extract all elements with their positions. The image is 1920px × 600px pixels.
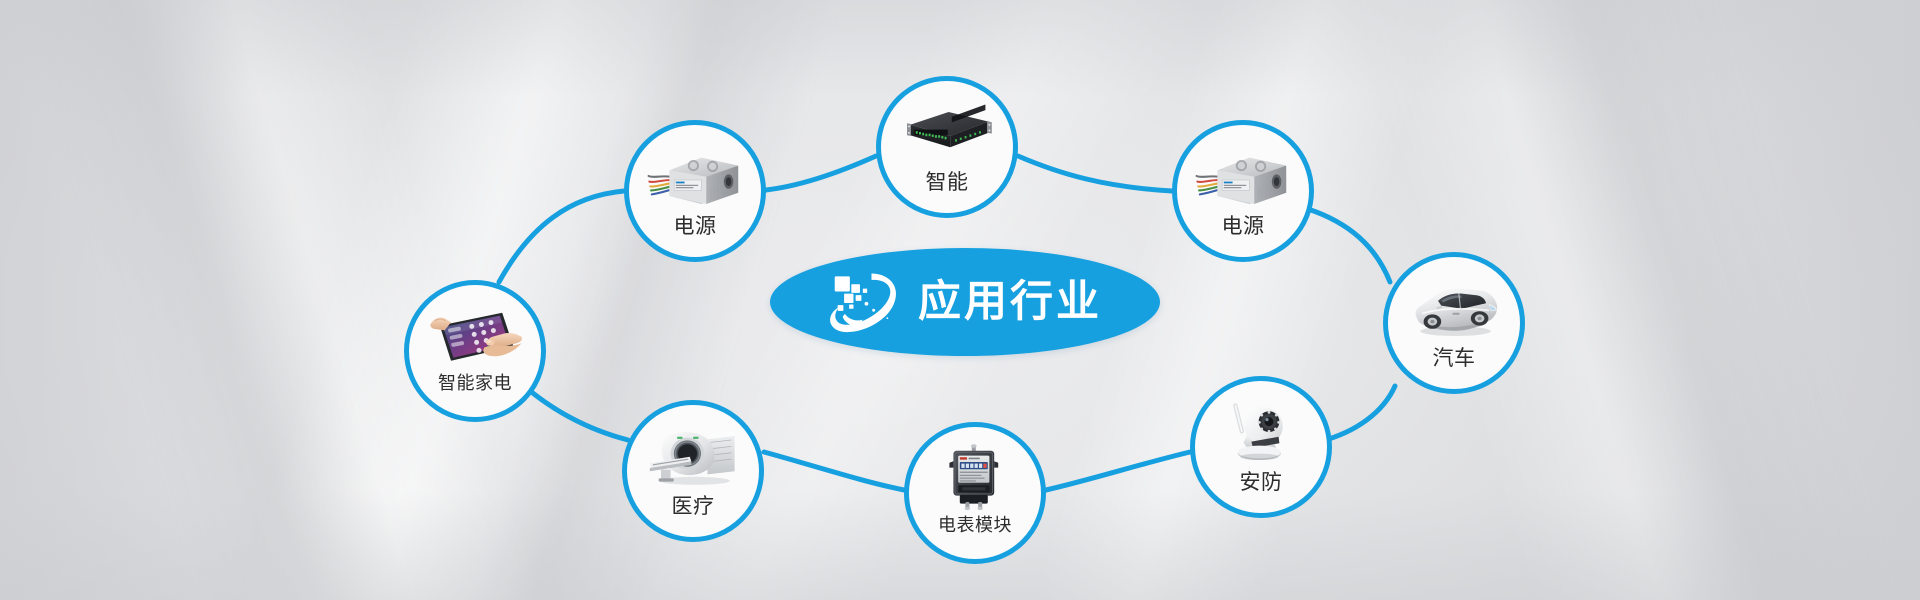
connector-powerleft-to-smart	[766, 156, 876, 190]
node-label: 电源	[674, 215, 717, 237]
application-industries-infographic: 应用行业	[0, 0, 1920, 600]
node-security[interactable]: 安防	[1190, 376, 1332, 518]
node-smart-home-appliance[interactable]: 智能家电	[404, 280, 546, 422]
node-label: 汽车	[1433, 347, 1476, 369]
node-medical[interactable]: 医疗	[622, 400, 764, 542]
connector-smarthome-to-powerleft	[499, 191, 624, 282]
power-supply-unit-icon	[1195, 141, 1291, 211]
mri-scanner-icon	[645, 421, 741, 491]
tablet-touch-hand-icon	[427, 301, 523, 371]
node-automotive[interactable]: 汽车	[1383, 252, 1525, 394]
connector-security-to-meter	[1046, 452, 1190, 490]
node-power-supply-right[interactable]: 电源	[1172, 120, 1314, 262]
electric-meter-icon	[927, 443, 1023, 513]
node-power-supply-left[interactable]: 电源	[624, 120, 766, 262]
digital-orbit-logo-icon	[828, 272, 902, 334]
sports-car-icon	[1406, 273, 1502, 343]
center-badge[interactable]: 应用行业	[770, 248, 1160, 356]
power-supply-unit-icon	[647, 141, 743, 211]
connector-automotive-to-security	[1322, 386, 1395, 441]
connector-powerright-to-automotive	[1308, 209, 1390, 282]
node-label: 安防	[1240, 471, 1283, 493]
connector-meter-to-medical	[764, 452, 904, 490]
node-smart[interactable]: 智能	[876, 76, 1018, 218]
connector-smart-to-powerright	[1018, 156, 1172, 191]
node-label: 电源	[1222, 215, 1265, 237]
node-electric-meter-module[interactable]: 电表模块	[904, 422, 1046, 564]
node-label: 智能家电	[438, 375, 512, 394]
center-badge-label: 应用行业	[918, 281, 1102, 324]
node-label: 智能	[926, 171, 969, 193]
node-label: 医疗	[672, 495, 715, 517]
rack-server-icon	[899, 97, 995, 167]
node-label: 电表模块	[938, 517, 1012, 536]
ip-camera-icon	[1213, 397, 1309, 467]
